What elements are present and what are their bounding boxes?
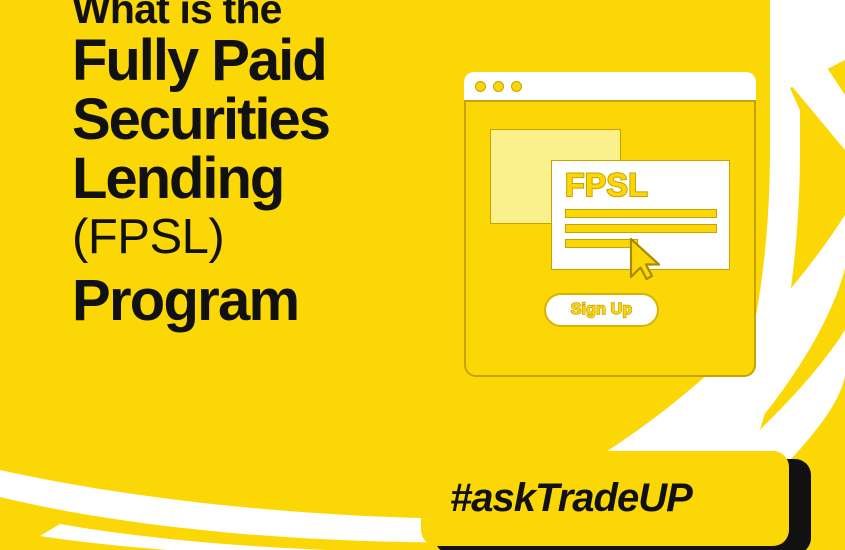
sign-up-label: Sign Up — [571, 301, 633, 319]
page-title: What is the Fully Paid Securities Lendin… — [72, 0, 452, 336]
browser-window-illustration: FPSL Sign Up — [464, 72, 756, 377]
window-dot-close-icon — [475, 81, 486, 92]
window-dot-minimize-icon — [493, 81, 504, 92]
poster-canvas: What is the Fully Paid Securities Lendin… — [0, 0, 845, 550]
hashtag-text: #askTradeUP — [450, 476, 692, 521]
fpsl-text-bar — [565, 224, 717, 233]
window-dot-maximize-icon — [511, 81, 522, 92]
fpsl-text-bar — [565, 239, 638, 248]
headline-line-6: Program — [72, 266, 452, 336]
headline-line-5-abbr: (FPSL) — [72, 209, 452, 267]
browser-titlebar — [464, 72, 756, 102]
headline-line-3: Securities — [72, 90, 452, 149]
arrow-cursor-icon — [628, 237, 662, 281]
hashtag-banner: #askTradeUP — [421, 451, 811, 550]
fpsl-text-bar — [565, 209, 717, 218]
headline-line-2: Fully Paid — [72, 31, 452, 90]
sign-up-button[interactable]: Sign Up — [544, 293, 659, 327]
headline-line-1: What is the — [72, 0, 452, 31]
banner-face: #askTradeUP — [421, 451, 789, 546]
headline-line-4: Lending — [72, 149, 452, 208]
fpsl-card-title: FPSL — [565, 170, 717, 200]
